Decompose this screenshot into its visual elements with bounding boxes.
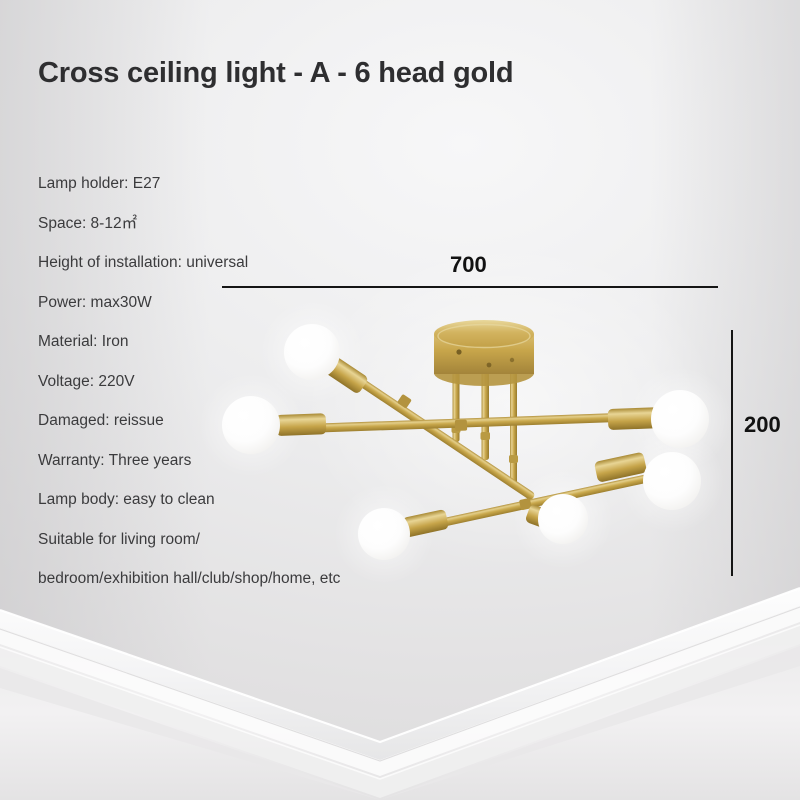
- spec-item-lamp-holder: Lamp holder: E27: [38, 176, 458, 216]
- height-dimension-label: 200: [744, 412, 781, 438]
- height-dimension-line: [731, 330, 733, 576]
- spec-item-warranty: Warranty: Three years: [38, 453, 458, 493]
- spec-item-power: Power: max30W: [38, 295, 458, 335]
- page-title: Cross ceiling light - A - 6 head gold: [38, 57, 513, 90]
- spec-item-height: Height of installation: universal: [38, 255, 458, 295]
- spec-item-lamp-body: Lamp body: easy to clean: [38, 492, 458, 532]
- width-dimension-label: 700: [450, 252, 487, 278]
- spec-item-damaged: Damaged: reissue: [38, 413, 458, 453]
- spec-item-material: Material: Iron: [38, 334, 458, 374]
- spec-item-space: Space: 8-12㎡: [38, 216, 458, 256]
- spec-item-suitable-2: bedroom/exhibition hall/club/shop/home, …: [38, 571, 458, 611]
- product-spec-image: Cross ceiling light - A - 6 head gold La…: [0, 0, 800, 800]
- spec-item-suitable-1: Suitable for living room/: [38, 532, 458, 572]
- spec-item-voltage: Voltage: 220V: [38, 374, 458, 414]
- width-dimension-line: [222, 286, 718, 288]
- specification-list: Lamp holder: E27 Space: 8-12㎡ Height of …: [38, 176, 458, 611]
